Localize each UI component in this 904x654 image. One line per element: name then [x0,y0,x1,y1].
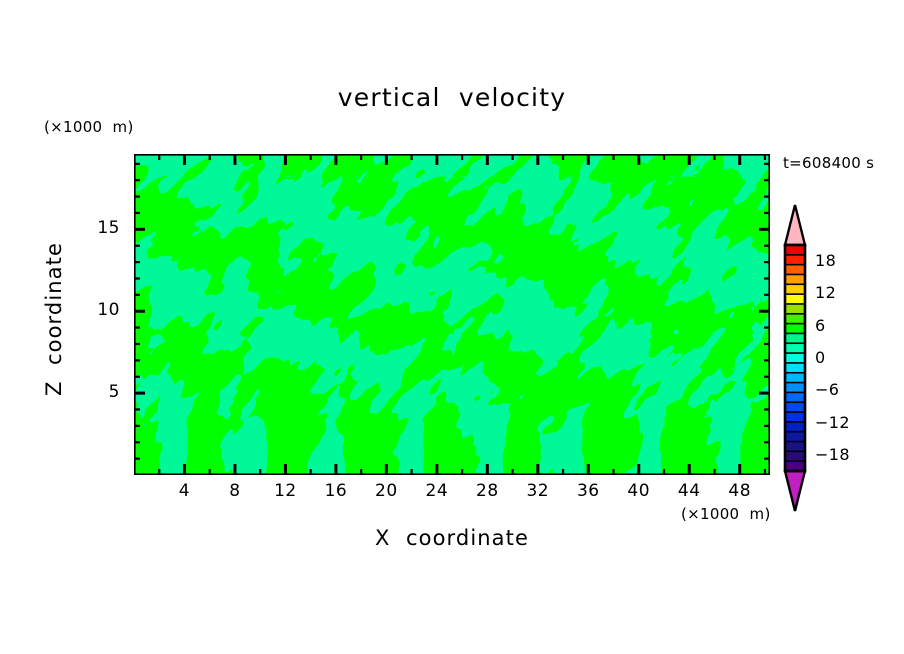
y-tick-label: 10 [64,300,120,320]
colorbar [779,203,813,513]
colorbar-tick-label: 6 [815,316,826,335]
colorbar-tick-label: 18 [815,251,836,270]
figure-root: vertical velocity (×1000 m) (×1000 m) t=… [0,0,904,654]
contour-field-plot [134,154,770,475]
colorbar-tick-label: −12 [815,413,850,432]
page-title: vertical velocity [0,83,904,112]
y-tick-label: 15 [64,218,120,238]
x-axis-unit-label: (×1000 m) [681,505,771,523]
time-annotation: t=608400 s [783,154,874,172]
x-axis-title: X coordinate [0,526,904,550]
y-tick-label: 5 [64,382,120,402]
colorbar-tick-label: −18 [815,445,850,464]
colorbar-tick-label: 12 [815,283,836,302]
y-axis-unit-label: (×1000 m) [44,118,134,136]
colorbar-tick-label: 0 [815,348,826,367]
colorbar-tick-label: −6 [815,380,839,399]
x-tick-label: 48 [710,481,770,501]
z-axis-title: Z coordinate [42,219,66,419]
